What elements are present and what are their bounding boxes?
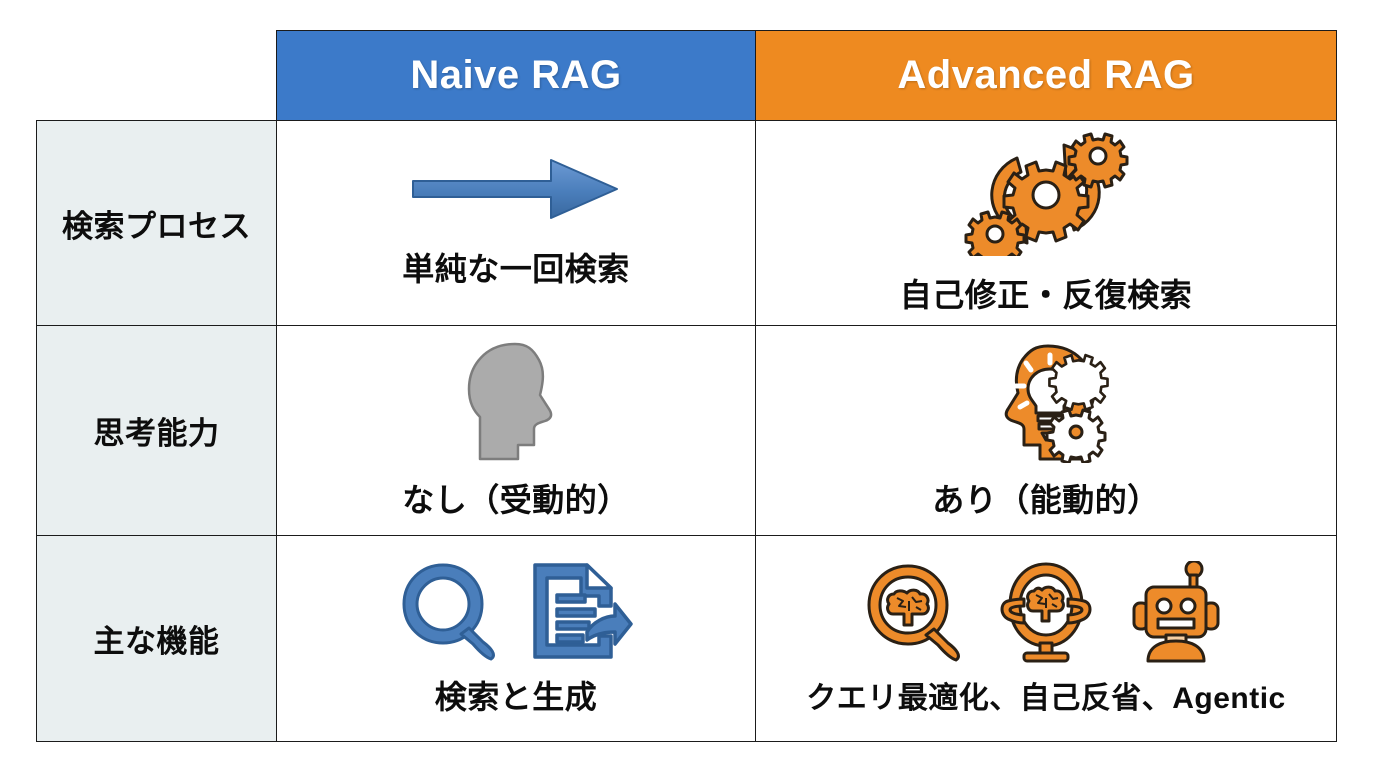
table-corner-cell	[37, 31, 277, 121]
cyclic-gears-icon	[951, 131, 1141, 256]
row-label-search-process: 検索プロセス	[37, 121, 277, 326]
document-export-icon	[529, 560, 633, 662]
caption-naive-search-process: 単純な一回検索	[402, 244, 630, 290]
column-header-advanced-rag: Advanced RAG	[756, 31, 1337, 121]
mirror-brain-icon	[994, 561, 1098, 663]
right-arrow-icon	[411, 156, 621, 222]
caption-advanced-thinking-ability: あり（能動的）	[932, 475, 1160, 521]
table-header-row: Naive RAG Advanced RAG	[37, 31, 1337, 121]
rag-comparison-table: Naive RAG Advanced RAG 検索プロセス	[36, 30, 1337, 742]
row-label-main-features: 主な機能	[37, 536, 277, 742]
caption-naive-thinking-ability: なし（受動的）	[402, 475, 630, 521]
gray-head-silhouette-icon	[461, 341, 571, 463]
robot-icon	[1124, 561, 1228, 663]
table-row: 思考能力 なし（受動的）	[37, 326, 1337, 536]
caption-advanced-search-process: 自己修正・反復検索	[900, 270, 1193, 316]
cell-advanced-search-process: 自己修正・反復検索	[756, 121, 1337, 326]
cell-naive-thinking-ability: なし（受動的）	[277, 326, 756, 536]
cell-naive-main-features: 検索と生成	[277, 536, 756, 742]
caption-naive-main-features: 検索と生成	[435, 672, 598, 718]
caption-advanced-main-features: クエリ最適化、自己反省、Agentic	[806, 673, 1286, 717]
cell-naive-search-process: 単純な一回検索	[277, 121, 756, 326]
table-row: 検索プロセス 単純な一回検索	[37, 121, 1337, 326]
row-label-thinking-ability: 思考能力	[37, 326, 277, 536]
cell-advanced-thinking-ability: あり（能動的）	[756, 326, 1337, 536]
column-header-naive-rag: Naive RAG	[277, 31, 756, 121]
magnifier-brain-icon	[864, 561, 968, 663]
magnifier-icon	[399, 560, 503, 662]
head-with-lightbulb-gears-icon	[982, 341, 1110, 463]
cell-advanced-main-features: クエリ最適化、自己反省、Agentic	[756, 536, 1337, 742]
table-row: 主な機能	[37, 536, 1337, 742]
